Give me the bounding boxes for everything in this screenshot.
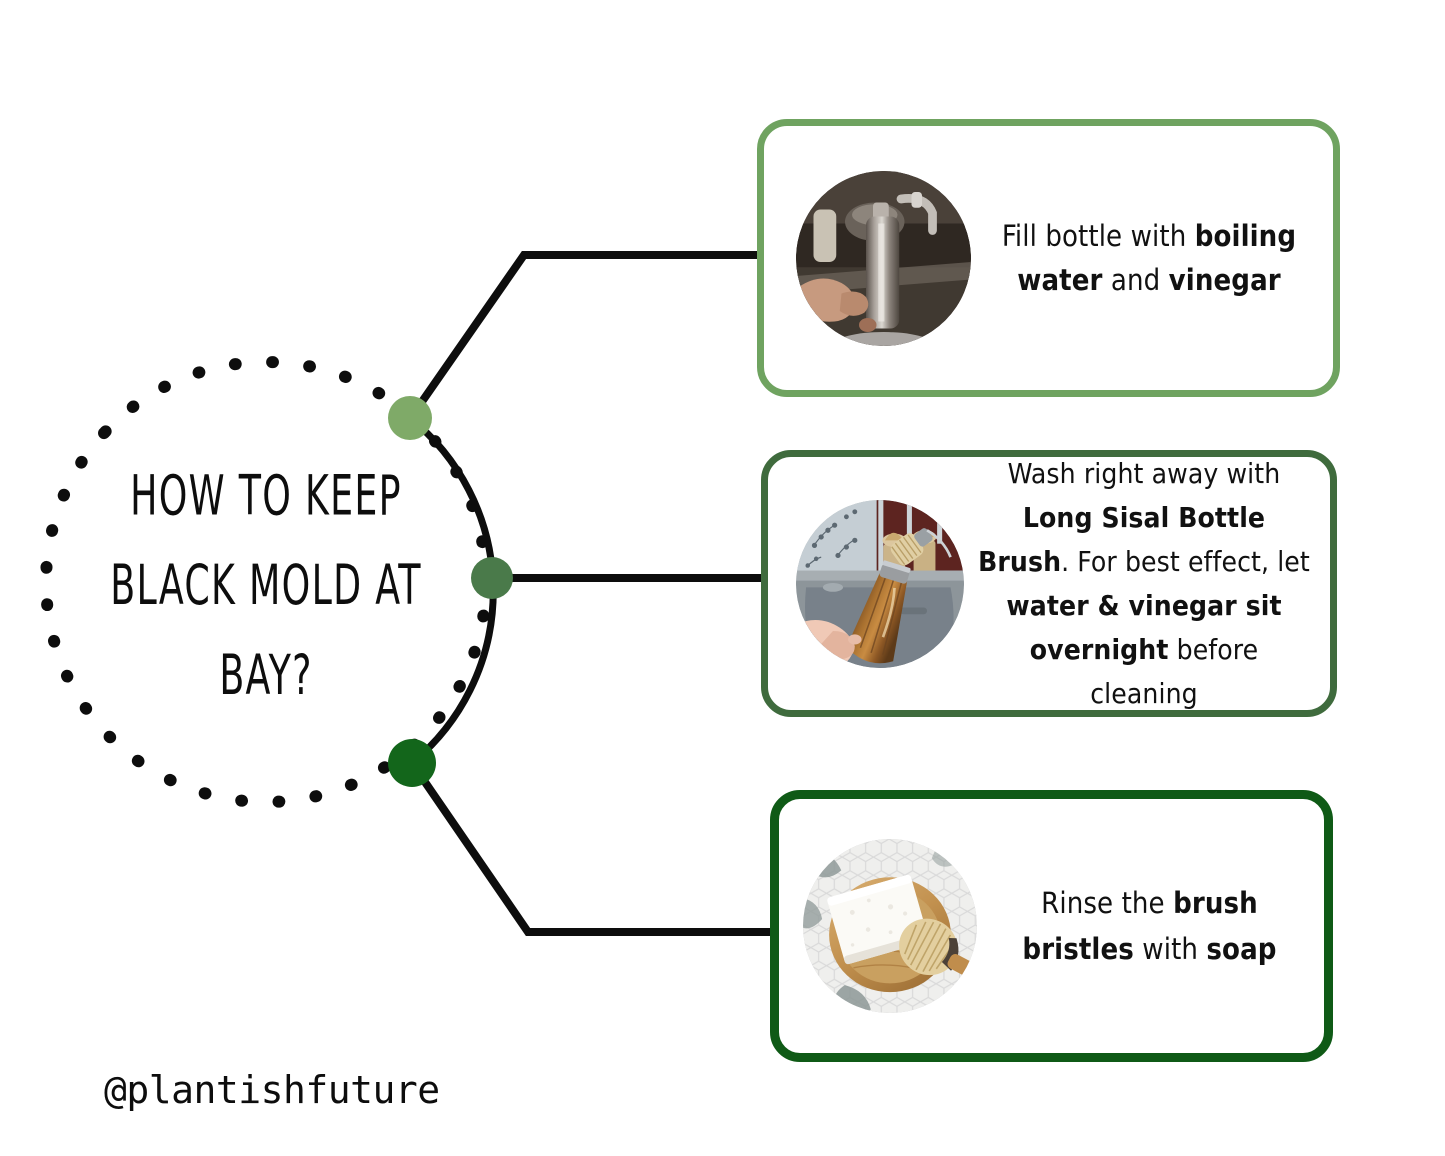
step-card-fill-bottle[interactable]: Fill bottle with boiling water and vineg… [757,119,1340,397]
text-run: with [1134,932,1207,966]
node-dot-top[interactable] [388,396,432,440]
text-run: Rinse the [1041,886,1173,920]
brand-handle: @plantishfuture [104,1068,440,1112]
bottle-brush-in-sink-photo [796,500,964,668]
node-dot-middle[interactable] [471,557,513,599]
bottle-under-faucet-photo [796,171,971,346]
text-run-bold: vinegar [1169,263,1281,297]
connector-to-card-3 [414,766,772,932]
text-run: Wash right away with [1008,457,1281,490]
text-run: Fill bottle with [1002,219,1195,253]
step-card-text: Wash right away with Long Sisal Bottle B… [964,452,1314,716]
step-card-text: Fill bottle with boiling water and vineg… [971,214,1311,302]
text-run: . For best effect, let [1061,545,1310,578]
node-dot-bottom[interactable] [388,739,436,787]
hub-title: HOW TO KEEP BLACK MOLD AT BAY? [77,452,455,721]
step-card-text: Rinse the brush bristles with soap [977,880,1302,972]
text-run: and [1103,263,1169,297]
step-card-rinse-bristles[interactable]: Rinse the brush bristles with soap [770,790,1333,1062]
text-run-bold: soap [1206,932,1276,966]
connector-to-card-1 [412,255,760,416]
infographic-canvas: HOW TO KEEP BLACK MOLD AT BAY? [0,0,1445,1156]
soap-and-brush-dish-photo [803,839,977,1013]
step-card-wash-with-brush[interactable]: Wash right away with Long Sisal Bottle B… [761,450,1337,717]
